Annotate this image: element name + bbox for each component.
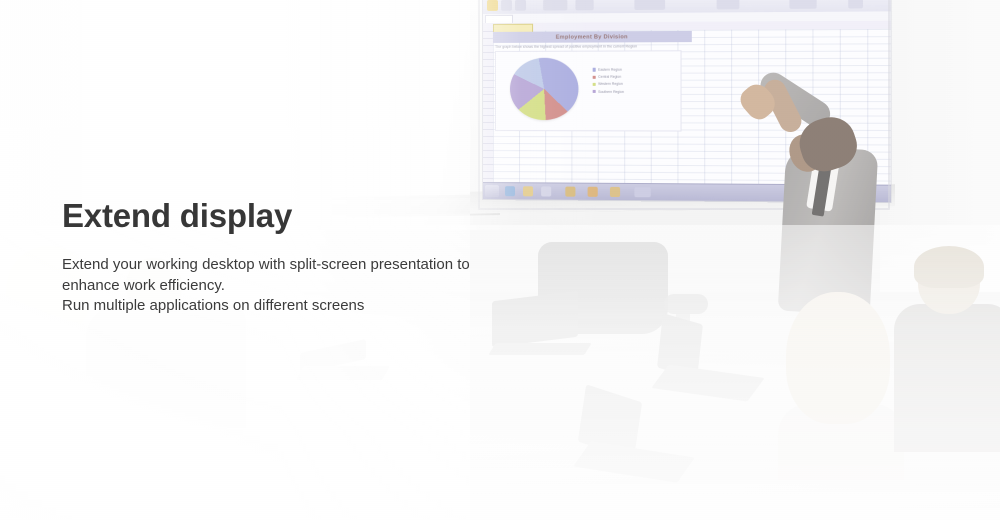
description-line-3: Run multiple applications on different s… [62,296,582,317]
pie-chart [510,58,578,120]
laptop [660,318,756,396]
media-icon[interactable] [565,187,575,197]
legend-label: Western Region [598,82,623,86]
seated-woman-center [778,292,904,480]
chart-icon[interactable] [588,187,598,197]
description-line-2: enhance work efficiency. [62,276,582,297]
settings-icon[interactable] [610,187,620,197]
legend-item: Western Region [593,82,624,86]
laptop [582,392,686,476]
legend-swatch [593,83,596,86]
sheet-title-text: Employment By Division [556,34,628,40]
banner-copy: Extend display Extend your working deskt… [62,198,582,317]
legend-item: Southern Region [593,89,624,93]
banner-stage: Employment By Division The graph below s… [0,0,1000,520]
chart-area[interactable]: Eastern Region Central Region Western Re… [495,50,682,131]
banner-description: Extend your working desktop with split-s… [62,255,582,317]
legend-label: Southern Region [598,89,624,93]
start-icon[interactable] [485,185,499,197]
legend-label: Central Region [598,75,621,79]
row-header-lines [483,31,493,183]
legend-label: Eastern Region [598,68,622,72]
legend-item: Eastern Region [593,68,624,72]
description-line-1: Extend your working desktop with split-s… [62,255,582,276]
legend-item: Central Region [593,75,624,79]
folder-icon[interactable] [523,186,533,196]
chart-legend: Eastern Region Central Region Western Re… [593,68,624,97]
sheet-title-banner: Employment By Division [493,31,692,43]
page-title: Extend display [62,198,582,235]
presenter-figure [738,50,888,312]
browser-icon[interactable] [505,186,515,196]
table-base [175,455,320,513]
app-icon[interactable] [634,187,650,197]
legend-swatch [593,68,596,71]
presenter-hand [736,79,781,124]
presenter-forearm [760,76,805,136]
legend-swatch [593,90,596,93]
laptop [300,346,386,380]
mail-icon[interactable] [541,186,551,196]
seated-man-right [890,252,1000,452]
legend-swatch [593,75,596,78]
